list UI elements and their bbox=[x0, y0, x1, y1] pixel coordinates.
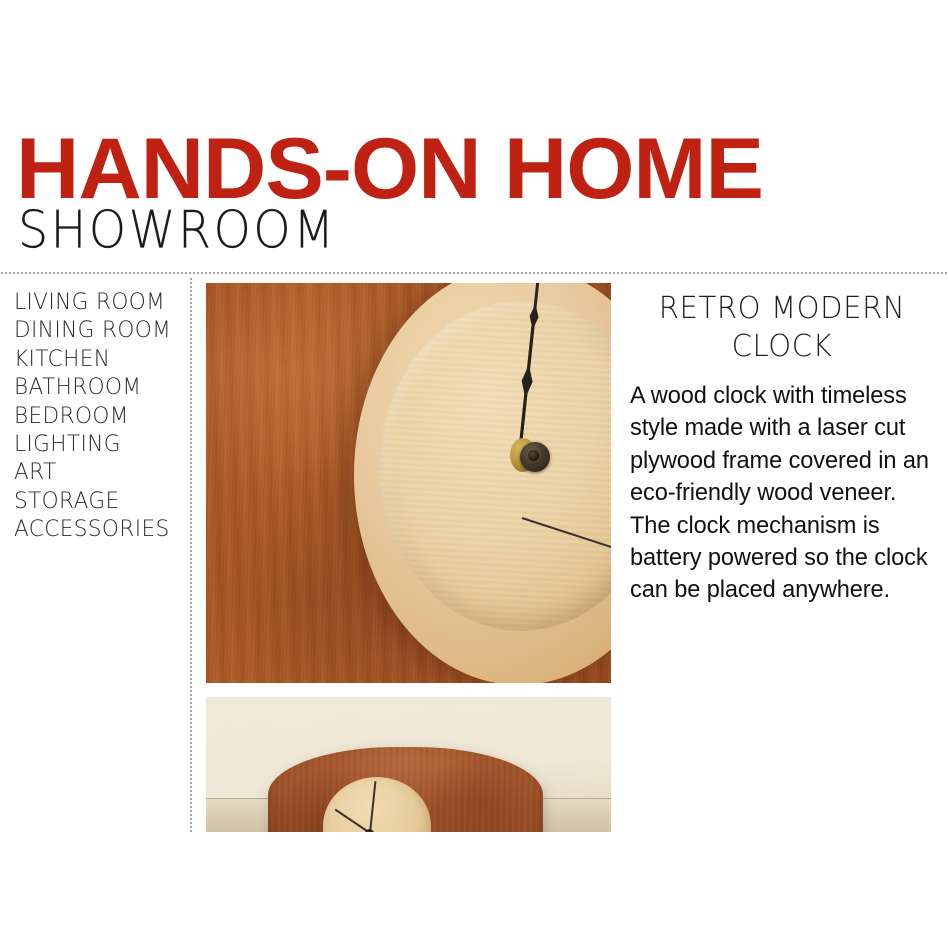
product-photo-clock-angle-view[interactable] bbox=[206, 697, 611, 832]
clock-hour-hand bbox=[519, 325, 535, 445]
clock-face bbox=[380, 301, 611, 631]
vertical-divider bbox=[190, 277, 192, 833]
product-title: RETRO MODERN CLOCK bbox=[627, 290, 937, 366]
product-gallery bbox=[206, 283, 611, 832]
showroom-page: HANDS-ON HOME SHOWROOM LIVING ROOM DININ… bbox=[0, 0, 948, 948]
horizontal-divider bbox=[0, 272, 948, 274]
clock-angle-minute-hand bbox=[369, 781, 376, 832]
sidebar-item-bathroom[interactable]: BATHROOM bbox=[14, 373, 183, 401]
product-description: A wood clock with timeless style made wi… bbox=[630, 380, 930, 607]
sidebar-item-dining-room[interactable]: DINING ROOM bbox=[14, 316, 183, 344]
masthead: HANDS-ON HOME SHOWROOM bbox=[0, 0, 948, 273]
clock-angle-hub bbox=[365, 829, 374, 832]
sidebar-item-storage[interactable]: STORAGE bbox=[14, 487, 183, 515]
sidebar-item-lighting[interactable]: LIGHTING bbox=[14, 430, 183, 458]
sidebar-item-bedroom[interactable]: BEDROOM bbox=[14, 402, 183, 430]
sidebar-item-living-room[interactable]: LIVING ROOM bbox=[14, 288, 183, 316]
product-photo-clock-face-detail[interactable] bbox=[206, 283, 611, 683]
sidebar-item-kitchen[interactable]: KITCHEN bbox=[14, 345, 183, 373]
sidebar-item-art[interactable]: ART bbox=[14, 458, 183, 486]
clock-angle-second-hand bbox=[335, 809, 371, 832]
product-detail-panel: RETRO MODERN CLOCK A wood clock with tim… bbox=[622, 290, 942, 607]
clock-second-hand bbox=[522, 517, 611, 551]
sidebar-item-accessories[interactable]: ACCESSORIES bbox=[14, 515, 183, 543]
page-subtitle: SHOWROOM bbox=[18, 204, 337, 256]
category-sidebar: LIVING ROOM DINING ROOM KITCHEN BATHROOM… bbox=[14, 288, 190, 544]
